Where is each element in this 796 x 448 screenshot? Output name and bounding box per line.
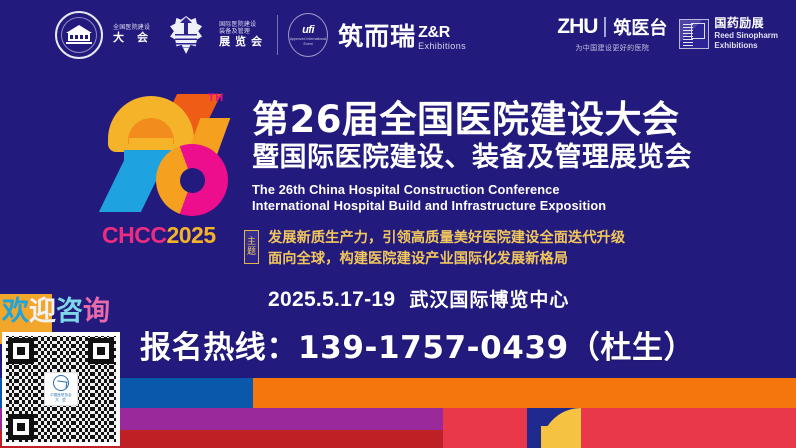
theme-badge-char-2: 题 [247,248,256,257]
hospital-building-icon [66,25,92,45]
event-venue: 武汉国际博览中心 [409,285,569,312]
event-date-venue: 2025.5.17-19 武汉国际博览中心 [268,285,569,312]
exhibition-label-small-1: 国际医院建设 [219,22,267,29]
welcome-char-1: 欢 [2,296,29,327]
zhu-mark: ZHU [557,15,597,39]
zhu-tagline: 为中国建设更好的医院 [575,43,649,53]
title-english-line-1: The 26th China Hospital Construction Con… [252,182,772,198]
sinopharm-chinese-name: 国药励展 [714,16,778,31]
event-date: 2025.5.17-19 [268,288,395,312]
number-26-graphic [96,88,248,218]
zr-subtitle: Exhibitions [418,42,466,51]
qr-consult-panel: 欢迎咨询 中国医院协会 大 会 [0,286,134,448]
zr-exhibitions-logo: 筑而瑞 Z&R Exhibitions [338,17,466,53]
title-chinese-line-2: 暨国际医院建设、装备及管理展览会 [252,141,772,175]
exhibition-label-small-2: 装备及管理 [219,29,267,36]
logo-divider [277,15,278,55]
chcc-wordmark: CHCC2025 [102,222,216,249]
sinopharm-seal-icon [679,19,709,49]
ufi-sub: Approved International Event [289,37,327,46]
snowflake-exhibition-icon [163,12,209,58]
zhu-chinese-name: 筑医台 [613,14,667,40]
chcc-wordmark-letters: CHCC [102,222,166,248]
theme-line-2: 面向全球，构建医院建设产业国际化发展新格局 [268,249,625,270]
ufi-badge-icon: ufi Approved International Event [288,13,328,57]
right-logo-group: ZHU 筑医台 为中国建设更好的医院 国药励展 Reed Sinopharm E… [557,14,778,53]
event-poster: 全国医院建设 大 会 国际医院建设 装备及管理 展览会 ufi Approved… [0,0,796,448]
theme-badge-char-1: 主 [247,238,256,247]
conference-seal-label-big: 大 会 [113,32,153,45]
title-chinese-line-1: 第26届全国医院建设大会 [252,100,772,140]
welcome-text: 欢迎咨询 [2,298,110,325]
chcc-wordmark-year: 2025 [166,222,215,248]
qr-center-logo: 中国医院协会 大 会 [44,372,78,406]
theme-text: 发展新质生产力，引领高质量美好医院建设全面迭代升级 面向全球，构建医院建设产业国… [268,228,625,269]
theme-line-1: 发展新质生产力，引领高质量美好医院建设全面迭代升级 [268,228,625,249]
reed-sinopharm-logo: 国药励展 Reed Sinopharm Exhibitions [679,16,778,51]
sponsor-logo-bar: 全国医院建设 大 会 国际医院建设 装备及管理 展览会 ufi Approved… [0,0,796,72]
welcome-char-4: 询 [83,296,110,327]
sinopharm-en-2: Exhibitions [714,41,778,51]
theme-row: 主 题 发展新质生产力，引领高质量美好医院建设全面迭代升级 面向全球，构建医院建… [244,228,625,269]
welcome-char-2: 迎 [29,296,56,327]
welcome-char-3: 咨 [56,296,83,327]
qr-center-label-2: 大 会 [55,397,67,403]
chcc-anniversary-logo: TH CHCC2025 [96,88,248,264]
ordinal-suffix: TH [208,92,224,104]
qr-code-icon[interactable]: 中国医院协会 大 会 [6,336,116,442]
zhuyitai-logo: ZHU 筑医台 为中国建设更好的医院 [557,14,667,53]
ufi-mark: ufi [302,24,314,36]
title-english-line-2: International Hospital Build and Infrast… [252,198,772,214]
title-block: 第26届全国医院建设大会 暨国际医院建设、装备及管理展览会 The 26th C… [252,100,772,214]
exhibition-label: 国际医院建设 装备及管理 展览会 [219,22,267,48]
zhu-divider [604,17,606,37]
qr-code-box[interactable]: 中国医院协会 大 会 [2,332,120,446]
exhibition-label-big: 展览会 [219,36,267,49]
band-gold-block [541,426,581,448]
sinopharm-en-1: Reed Sinopharm [714,31,778,41]
left-logo-group: 全国医院建设 大 会 国际医院建设 装备及管理 展览会 ufi Approved… [55,11,466,59]
registration-hotline[interactable]: 报名热线：139-1757-0439（杜生） [140,322,695,367]
zr-mark: Z&R [418,25,466,41]
zr-chinese-name: 筑而瑞 [338,17,416,53]
conference-seal-label: 全国医院建设 大 会 [113,25,153,45]
qr-center-emblem-icon [53,375,69,391]
conference-seal-icon [55,11,103,59]
theme-badge: 主 题 [244,230,259,264]
